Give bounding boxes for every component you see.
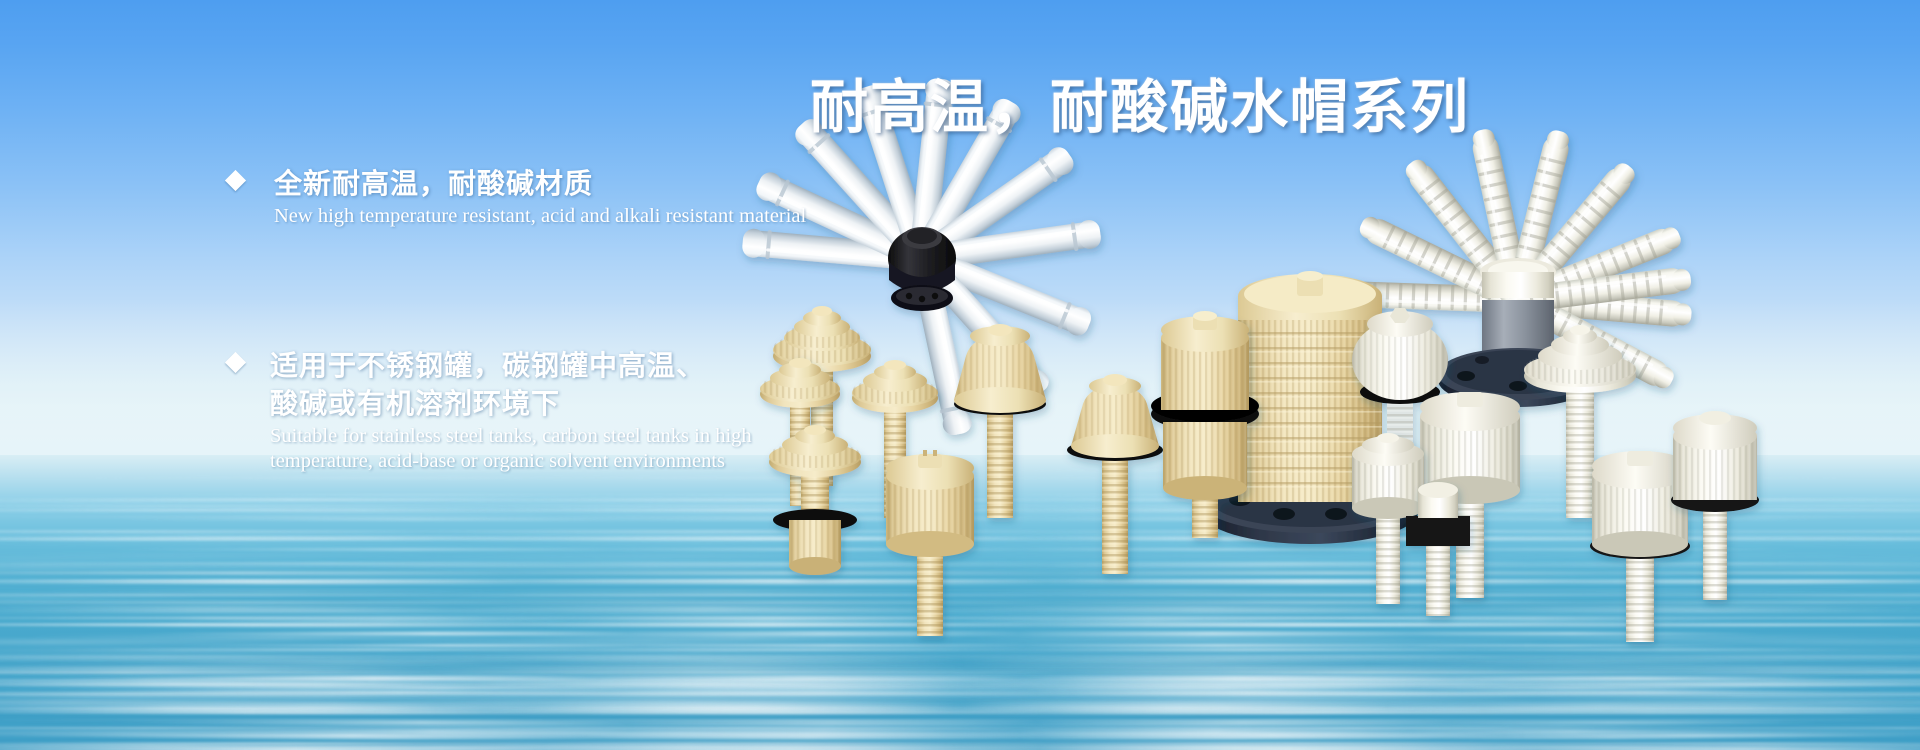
product-banner: 耐高温，耐酸碱水帽系列 全新耐高温，耐酸碱材质 New high tempera…: [0, 0, 1920, 750]
diamond-bullet-icon: [225, 352, 246, 373]
feature-bullet-2-en: Suitable for stainless steel tanks, carb…: [270, 424, 1028, 474]
ivory-nozzle-cluster: [1352, 308, 1759, 642]
feature-bullet-2: 适用于不锈钢罐，碳钢罐中高温、 酸碱或有机溶剂环境下 Suitable for …: [228, 347, 1028, 474]
feature-bullet-1: 全新耐高温，耐酸碱材质 New high temperature resista…: [228, 165, 1028, 229]
feature-bullet-2-cn: 适用于不锈钢罐，碳钢罐中高温、 酸碱或有机溶剂环境下: [270, 347, 1028, 423]
feature-bullet-list: 全新耐高温，耐酸碱材质 New high temperature resista…: [228, 165, 1028, 474]
page-title: 耐高温，耐酸碱水帽系列: [810, 60, 1570, 144]
diamond-bullet-icon: [225, 170, 246, 191]
feature-bullet-1-cn: 全新耐高温，耐酸碱材质: [274, 165, 1028, 203]
feature-bullet-1-en: New high temperature resistant, acid and…: [274, 204, 1028, 229]
